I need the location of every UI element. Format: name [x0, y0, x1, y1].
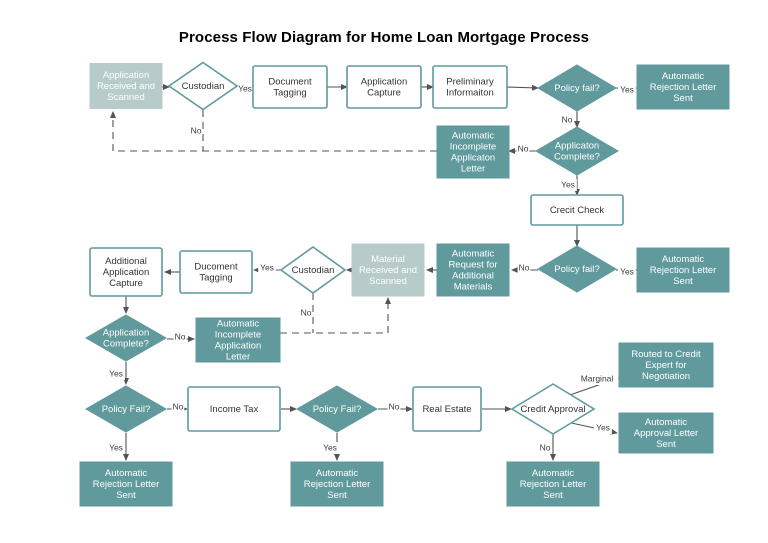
edge-label-n24-n25: Marginal	[581, 373, 614, 383]
node-label: ApplicatonComplete?	[554, 140, 600, 162]
flow-node[interactable]: Routed to CreditExpert forNegotiation	[619, 343, 713, 387]
node-label: Crecit Check	[550, 205, 605, 216]
node-label: Custodian	[182, 81, 225, 92]
edge-label-n24-n29: No	[540, 442, 551, 452]
flow-node[interactable]: Custodian	[281, 247, 345, 293]
flow-node[interactable]: ApplicationReceived andScanned	[90, 64, 162, 109]
flow-node[interactable]: DocumentTagging	[253, 66, 327, 108]
edge-label-n24-n26: Yes	[596, 422, 610, 432]
edge-label-n2-tail2: No	[191, 125, 202, 135]
edge-label-n6-n8: No	[562, 114, 573, 124]
flow-node[interactable]: Policy fail?	[538, 65, 616, 111]
flow-node[interactable]: Income Tax	[188, 387, 280, 431]
flow-node[interactable]: Custodian	[169, 63, 237, 110]
flow-node[interactable]: AutomaticRejection LetterSent	[80, 462, 172, 506]
flow-node[interactable]: AutomaticRejection LetterSent	[291, 462, 383, 506]
edge-label-n18-n20: Yes	[109, 368, 123, 378]
edge-n9-to-n1	[113, 112, 437, 151]
node-label: Policy Fail?	[102, 404, 151, 415]
edge-label-n2-n3: Yes	[238, 83, 252, 93]
node-label: ApplicationCapture	[361, 76, 407, 98]
edge-label-n20-n21: No	[173, 401, 184, 411]
node-label: PreliminaryInformaiton	[446, 76, 494, 98]
flow-node[interactable]: MaterialReceived andScanned	[352, 244, 424, 296]
flow-node[interactable]: Credit Approval	[512, 384, 594, 434]
edge-label-n11-n12: Yes	[620, 266, 634, 276]
edge-n5-to-n6	[507, 87, 538, 88]
edge-label-n22-n28: Yes	[323, 442, 337, 452]
flow-node[interactable]: ApplicatonComplete?	[536, 127, 618, 175]
flowchart-svg: YesYesNoNoYesYesNoYesNoYesNoYesNoYesMarg…	[0, 0, 768, 543]
flow-node[interactable]: PreliminaryInformaiton	[433, 66, 507, 108]
edge-label-n15-tail1: No	[301, 307, 312, 317]
node-label: Policy Fail?	[313, 404, 362, 415]
node-label: Policy fail?	[554, 83, 599, 94]
flow-node[interactable]: AutomaticIncompleteApplicationLetter	[196, 318, 280, 362]
flow-node[interactable]: AutomaticRequest forAdditionalMaterials	[437, 244, 509, 296]
edge-n19-to-n14	[280, 298, 388, 333]
node-label: DocumentTagging	[268, 76, 312, 98]
flow-node[interactable]: ApplicationComplete?	[86, 315, 166, 361]
flow-node[interactable]: Policy fail?	[538, 246, 616, 292]
flow-node[interactable]: AutomaticRejection LetterSent	[637, 65, 729, 109]
edge-label-n15-n16: Yes	[260, 262, 274, 272]
node-label: Custodian	[292, 265, 335, 276]
edge-label-n18-n19: No	[175, 331, 186, 341]
flow-node[interactable]: AutomaticRejection LetterSent	[507, 462, 599, 506]
flow-node[interactable]: DucomentTagging	[180, 251, 252, 293]
node-label: AutomaticRequest forAdditionalMaterials	[448, 248, 497, 292]
edge-label-n11-n13: No	[519, 262, 530, 272]
edge-label-n8-n10: Yes	[561, 179, 575, 189]
node-label: DucomentTagging	[194, 261, 238, 283]
nodes-layer: ApplicationReceived andScannedCustodianD…	[80, 63, 729, 507]
node-label: Policy fail?	[554, 264, 599, 275]
edge-label-n6-n7: Yes	[620, 84, 634, 94]
edge-label-n20-n27: Yes	[109, 442, 123, 452]
node-label: ApplicationComplete?	[103, 327, 149, 349]
node-label: Real Estate	[422, 404, 471, 415]
flow-node[interactable]: Policy Fail?	[86, 386, 166, 432]
node-label: AdditionalApplicationCapture	[103, 256, 149, 289]
flow-node[interactable]: ApplicationCapture	[347, 66, 421, 108]
edge-label-n22-n23: No	[389, 401, 400, 411]
flow-node[interactable]: AutomaticApproval LetterSent	[619, 413, 713, 453]
flow-node[interactable]: AutomaticIncompleteApplicatonLetter	[437, 126, 509, 178]
node-label: Credit Approval	[521, 404, 586, 415]
flow-node[interactable]: Real Estate	[413, 387, 481, 431]
edge-label-n8-n9: No	[518, 143, 529, 153]
flow-node[interactable]: AutomaticRejection LetterSent	[637, 248, 729, 292]
flow-node[interactable]: Policy Fail?	[297, 386, 377, 432]
flow-node[interactable]: AdditionalApplicationCapture	[90, 248, 162, 296]
flow-node[interactable]: Crecit Check	[531, 195, 623, 225]
flow-diagram-canvas: Process Flow Diagram for Home Loan Mortg…	[0, 0, 768, 543]
node-label: Income Tax	[210, 404, 259, 415]
